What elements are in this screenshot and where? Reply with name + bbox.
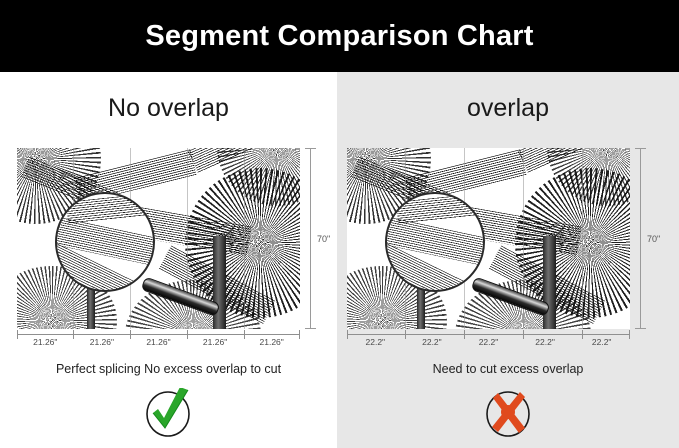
segment-width-label: 21.26" [187,337,244,347]
figure-no-overlap: 21.26" 21.26" 21.26" 21.26" 21.26" [17,148,300,354]
figure-overlap: 22.2" 22.2" 22.2" 22.2" 22.2" [347,148,630,354]
height-label: 70" [647,234,660,244]
comparison-panels: No overlap [0,72,679,448]
segment-width-label: 22.2" [517,337,574,347]
verdict-no-overlap [0,388,337,440]
width-dimension-no-overlap: 21.26" 21.26" 21.26" 21.26" 21.26" [17,334,300,354]
panel-no-overlap: No overlap [0,72,337,448]
segment-width-label: 21.26" [74,337,131,347]
photo-no-overlap [17,148,300,329]
photo-overlap [347,148,630,329]
magnifying-glass-icon [385,192,485,292]
panel-heading-no-overlap: No overlap [0,94,337,123]
panel-heading-overlap: overlap [337,94,679,123]
segment-width-label: 21.26" [17,337,74,347]
panel-overlap: overlap [337,72,679,448]
height-label: 70" [317,234,330,244]
width-dimension-overlap: 22.2" 22.2" 22.2" 22.2" 22.2" [347,334,630,354]
magnifying-glass-icon [55,192,155,292]
segment-width-label: 21.26" [130,337,187,347]
caption-overlap: Need to cut excess overlap [337,362,679,376]
caption-no-overlap: Perfect splicing No excess overlap to cu… [0,362,337,376]
segment-width-label: 22.2" [460,337,517,347]
page-title: Segment Comparison Chart [145,20,533,53]
cross-icon [480,388,536,440]
segment-width-label: 21.26" [243,337,300,347]
segment-width-label: 22.2" [573,337,630,347]
verdict-overlap [337,388,679,440]
segment-width-label: 22.2" [347,337,404,347]
segment-width-label: 22.2" [404,337,461,347]
title-bar: Segment Comparison Chart [0,0,679,72]
check-icon [141,388,197,440]
